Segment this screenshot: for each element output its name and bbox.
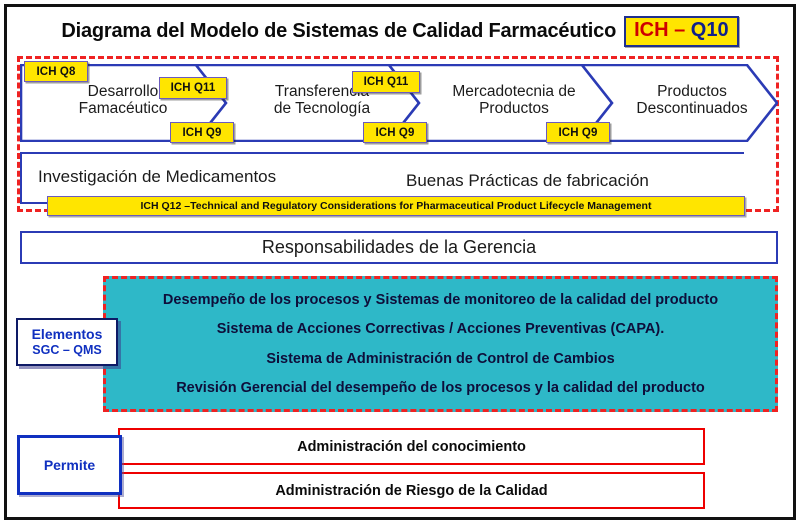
badge-ich-q8[interactable]: ICH Q8 xyxy=(24,61,88,82)
qms-element-4: Revisión Gerencial del desempeño de los … xyxy=(176,380,705,396)
badge-ich-q9-a[interactable]: ICH Q9 xyxy=(170,122,234,143)
qms-element-1: Desempeño de los procesos y Sistemas de … xyxy=(163,292,718,308)
gmp-label: Buenas Prácticas de fabricación xyxy=(406,171,649,191)
enabler-quality-risk-management: Administración de Riesgo de la Calidad xyxy=(118,472,705,509)
badge-ich-q9-b[interactable]: ICH Q9 xyxy=(363,122,427,143)
ich-q10-prefix: ICH – xyxy=(634,19,691,41)
page-title: Diagrama del Modelo de Sistemas de Calid… xyxy=(61,20,616,43)
qms-elements-box: Desempeño de los procesos y Sistemas de … xyxy=(103,276,778,412)
qms-element-2: Sistema de Acciones Correctivas / Accion… xyxy=(217,321,665,337)
investigation-left-label: Investigación de Medicamentos xyxy=(38,167,276,187)
ich-q10-suffix: Q10 xyxy=(691,19,729,41)
title-row: Diagrama del Modelo de Sistemas de Calid… xyxy=(20,14,780,48)
management-responsibilities-box: Responsabilidades de la Gerencia xyxy=(20,231,778,264)
chevron-stage-4 xyxy=(582,65,777,141)
permite-tag: Permite xyxy=(17,435,122,495)
enabler-knowledge-management: Administración del conocimiento xyxy=(118,428,705,465)
elementos-tag-line2: SGC – QMS xyxy=(32,343,101,357)
qms-element-3: Sistema de Administración de Control de … xyxy=(266,351,614,367)
badge-ich-q9-c[interactable]: ICH Q9 xyxy=(546,122,610,143)
badge-ich-q11-b[interactable]: ICH Q11 xyxy=(352,71,420,93)
ich-q10-badge: ICH – Q10 xyxy=(624,16,739,47)
diagram-canvas: Diagrama del Modelo de Sistemas de Calid… xyxy=(0,0,800,524)
badge-ich-q11-a[interactable]: ICH Q11 xyxy=(159,77,227,99)
elementos-sgc-qms-tag: Elementos SGC – QMS xyxy=(16,318,118,366)
ich-q12-banner[interactable]: ICH Q12 –Technical and Regulatory Consid… xyxy=(47,196,745,216)
elementos-tag-line1: Elementos xyxy=(32,327,103,342)
